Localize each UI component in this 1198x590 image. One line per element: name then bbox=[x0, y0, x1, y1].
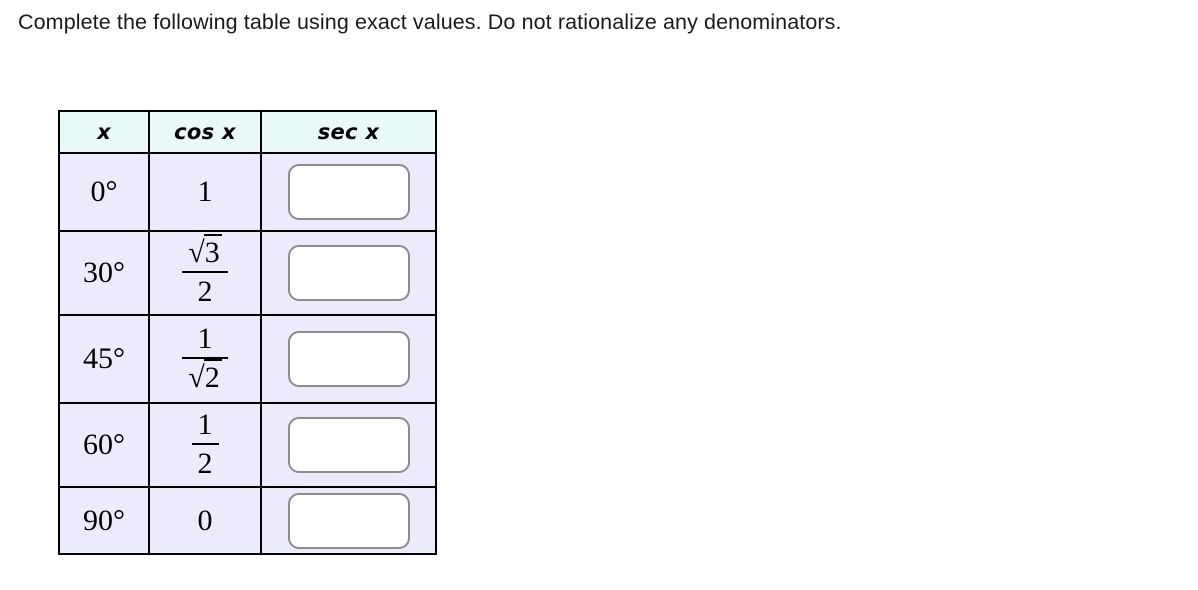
radicand: 3 bbox=[204, 234, 222, 269]
fraction-denominator: 2 bbox=[182, 275, 227, 307]
fraction-bar bbox=[182, 271, 227, 273]
cell-sec-answer bbox=[261, 315, 436, 403]
table-body: 0° 1 30° √3 2 bbox=[59, 153, 436, 554]
table-row: 90° 0 bbox=[59, 487, 436, 554]
sec-answer-input-30deg[interactable] bbox=[288, 245, 410, 301]
sec-answer-input-45deg[interactable] bbox=[288, 331, 410, 387]
instruction-text: Complete the following table using exact… bbox=[18, 6, 842, 38]
cell-angle: 60° bbox=[59, 403, 149, 487]
fraction: √3 2 bbox=[182, 238, 227, 307]
table-header: x cos x sec x bbox=[59, 111, 436, 153]
fraction-bar bbox=[192, 443, 219, 445]
cell-angle: 30° bbox=[59, 231, 149, 315]
square-root-icon: √2 bbox=[188, 363, 221, 393]
column-header-cos-x: cos x bbox=[149, 111, 261, 153]
cell-cos-value: 0 bbox=[149, 487, 261, 554]
cell-cos-value: 1 2 bbox=[149, 403, 261, 487]
cell-cos-value: √3 2 bbox=[149, 231, 261, 315]
sec-answer-input-0deg[interactable] bbox=[288, 164, 410, 220]
table-header-row: x cos x sec x bbox=[59, 111, 436, 153]
cell-sec-answer bbox=[261, 153, 436, 231]
cell-sec-answer bbox=[261, 231, 436, 315]
fraction: 1 2 bbox=[192, 410, 219, 479]
radical-symbol: √ bbox=[188, 361, 204, 394]
cell-cos-value: 1 bbox=[149, 153, 261, 231]
cell-angle: 90° bbox=[59, 487, 149, 554]
table-row: 60° 1 2 bbox=[59, 403, 436, 487]
fraction-denominator: 2 bbox=[192, 447, 219, 479]
cell-cos-value: 1 √2 bbox=[149, 315, 261, 403]
table-row: 30° √3 2 bbox=[59, 231, 436, 315]
fraction-numerator: 1 bbox=[192, 410, 219, 442]
radicand: 2 bbox=[204, 359, 222, 394]
fraction-denominator: √2 bbox=[182, 361, 227, 393]
cos-plain-value: 1 bbox=[198, 175, 213, 208]
square-root-icon: √3 bbox=[188, 238, 221, 268]
trig-values-table: x cos x sec x 0° 1 30° √3 bbox=[58, 110, 437, 555]
table-row: 45° 1 √2 bbox=[59, 315, 436, 403]
sec-answer-input-90deg[interactable] bbox=[288, 493, 410, 549]
cell-angle: 45° bbox=[59, 315, 149, 403]
fraction-numerator: 1 bbox=[182, 324, 227, 356]
fraction-numerator: √3 bbox=[182, 238, 227, 270]
column-header-x: x bbox=[59, 111, 149, 153]
cos-plain-value: 0 bbox=[198, 504, 213, 537]
cell-sec-answer bbox=[261, 403, 436, 487]
cell-angle: 0° bbox=[59, 153, 149, 231]
cell-sec-answer bbox=[261, 487, 436, 554]
sec-answer-input-60deg[interactable] bbox=[288, 417, 410, 473]
fraction: 1 √2 bbox=[182, 324, 227, 393]
table-row: 0° 1 bbox=[59, 153, 436, 231]
column-header-sec-x: sec x bbox=[261, 111, 436, 153]
radical-symbol: √ bbox=[188, 236, 204, 269]
